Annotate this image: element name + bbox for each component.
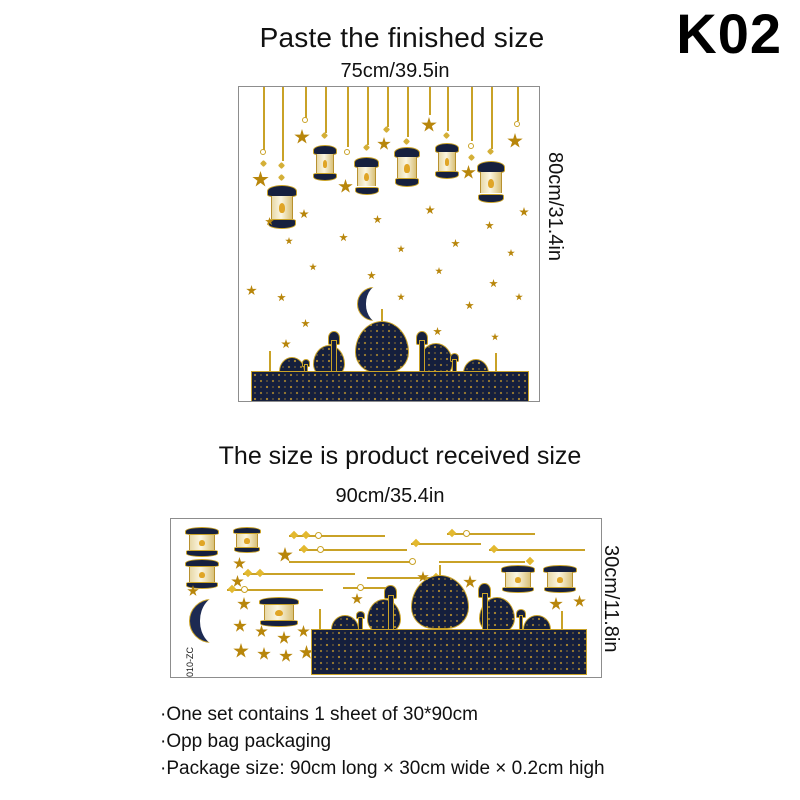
- gold-star-icon: [519, 207, 529, 217]
- gold-star-icon: [507, 249, 515, 257]
- lantern-icon: [435, 143, 459, 179]
- main-dome: [411, 575, 469, 629]
- sheet-width-label: 90cm/35.4in: [245, 485, 535, 508]
- chain-decal: [411, 543, 481, 545]
- gold-star-icon: [515, 293, 523, 301]
- gold-star-icon: [339, 233, 348, 242]
- chain-bead-icon: [302, 531, 310, 539]
- gold-star-icon: [338, 179, 353, 194]
- gold-star-icon: [421, 117, 437, 133]
- chain-ring-icon: [409, 558, 416, 565]
- hanging-chain: [447, 87, 449, 131]
- gold-star-icon: [233, 557, 246, 570]
- chain-bead-icon: [300, 545, 308, 553]
- gold-star-icon: [285, 237, 293, 245]
- mosque-base-wall: [311, 629, 587, 675]
- chain-bead-icon: [321, 132, 328, 139]
- gold-star-icon: [257, 647, 271, 661]
- lantern-icon: [185, 527, 219, 557]
- hanging-chain: [407, 87, 409, 137]
- gold-star-icon: [377, 137, 391, 151]
- finished-size-preview-panel: [238, 86, 540, 402]
- chain-bead-icon: [443, 132, 450, 139]
- hanging-chain: [367, 87, 369, 145]
- hanging-chain: [325, 87, 327, 133]
- chain-ring-icon: [241, 586, 248, 593]
- mosque-silhouette: [251, 309, 529, 402]
- mosque-base-wall: [251, 371, 529, 402]
- gold-star-icon: [397, 293, 405, 301]
- lantern-icon: [233, 527, 261, 553]
- chain-bead-icon: [487, 148, 494, 155]
- gold-star-icon: [485, 221, 494, 230]
- hanging-chain: [387, 87, 389, 127]
- lantern-icon: [313, 145, 337, 181]
- gold-star-icon: [425, 205, 435, 215]
- hanging-chain: [282, 87, 284, 161]
- chain-ring-icon: [463, 530, 470, 537]
- lantern-icon: [259, 597, 299, 627]
- package-details-list: ·One set contains 1 sheet of 30*90cm ·Op…: [160, 702, 720, 783]
- chain-ring-icon: [468, 143, 474, 149]
- detail-line: ·One set contains 1 sheet of 30*90cm: [160, 702, 720, 729]
- hanging-chain: [517, 87, 519, 121]
- gold-star-icon: [279, 649, 293, 663]
- gold-star-icon: [461, 165, 476, 180]
- hanging-chain: [263, 87, 265, 151]
- chain-bead-icon: [363, 144, 370, 151]
- gold-star-icon: [277, 293, 286, 302]
- gold-star-icon: [489, 279, 498, 288]
- gold-star-icon: [507, 133, 523, 149]
- hanging-chain: [305, 87, 307, 119]
- finished-width-label: 75cm/39.5in: [240, 60, 550, 83]
- gold-star-icon: [367, 271, 376, 280]
- chain-decal: [299, 549, 407, 551]
- chain-bead-icon: [526, 557, 534, 565]
- mosque-silhouette: [311, 565, 587, 675]
- chain-bead-icon: [412, 539, 420, 547]
- chain-bead-icon: [278, 174, 285, 181]
- gold-star-icon: [435, 267, 443, 275]
- product-code-badge: K02: [676, 6, 782, 62]
- chain-decal: [489, 549, 585, 551]
- main-dome: [355, 321, 409, 373]
- decal-sheet-panel: MS4010-ZC: [170, 518, 602, 678]
- chain-bead-icon: [244, 569, 252, 577]
- detail-line: ·Package size: 90cm long × 30cm wide × 0…: [160, 756, 720, 783]
- gold-star-icon: [309, 263, 317, 271]
- lantern-icon: [394, 147, 420, 187]
- gold-star-icon: [397, 245, 405, 253]
- product-size-infographic: Paste the finished size K02 75cm/39.5in …: [0, 0, 800, 800]
- chain-ring-icon: [260, 149, 266, 155]
- gold-star-icon: [246, 285, 257, 296]
- chain-bead-icon: [278, 162, 285, 169]
- sheet-sku-label: MS4010-ZC: [185, 647, 195, 678]
- finished-size-title: Paste the finished size: [222, 22, 582, 54]
- chain-bead-icon: [256, 569, 264, 577]
- sheet-height-label: 30cm/11.8in: [599, 545, 622, 652]
- chain-bead-icon: [403, 138, 410, 145]
- gold-star-icon: [277, 631, 291, 645]
- chain-decal: [447, 533, 535, 535]
- gold-star-icon: [233, 643, 249, 659]
- chain-bead-icon: [383, 126, 390, 133]
- chain-ring-icon: [317, 546, 324, 553]
- chain-decal: [289, 561, 415, 563]
- gold-star-icon: [294, 129, 310, 145]
- gold-star-icon: [373, 215, 382, 224]
- chain-bead-icon: [490, 545, 498, 553]
- gold-star-icon: [299, 209, 309, 219]
- chain-decal: [439, 561, 525, 563]
- chain-ring-icon: [302, 117, 308, 123]
- hanging-chain: [347, 87, 349, 147]
- hanging-chain: [491, 87, 493, 149]
- chain-bead-icon: [228, 585, 236, 593]
- hanging-chain: [429, 87, 431, 115]
- detail-line: ·Opp bag packaging: [160, 729, 720, 756]
- received-size-title: The size is product received size: [150, 442, 650, 471]
- lantern-icon: [185, 559, 219, 589]
- gold-star-icon: [451, 239, 460, 248]
- chain-bead-icon: [290, 531, 298, 539]
- chain-bead-icon: [448, 529, 456, 537]
- lantern-icon: [267, 185, 297, 229]
- lantern-icon: [477, 161, 505, 203]
- chain-ring-icon: [514, 121, 520, 127]
- hanging-chain: [471, 87, 473, 141]
- chain-ring-icon: [344, 149, 350, 155]
- crescent-moon-icon: [189, 599, 233, 643]
- chain-bead-icon: [468, 154, 475, 161]
- chain-ring-icon: [315, 532, 322, 539]
- chain-bead-icon: [260, 160, 267, 167]
- lantern-icon: [354, 157, 379, 195]
- finished-height-label: 80cm/31.4in: [543, 152, 566, 261]
